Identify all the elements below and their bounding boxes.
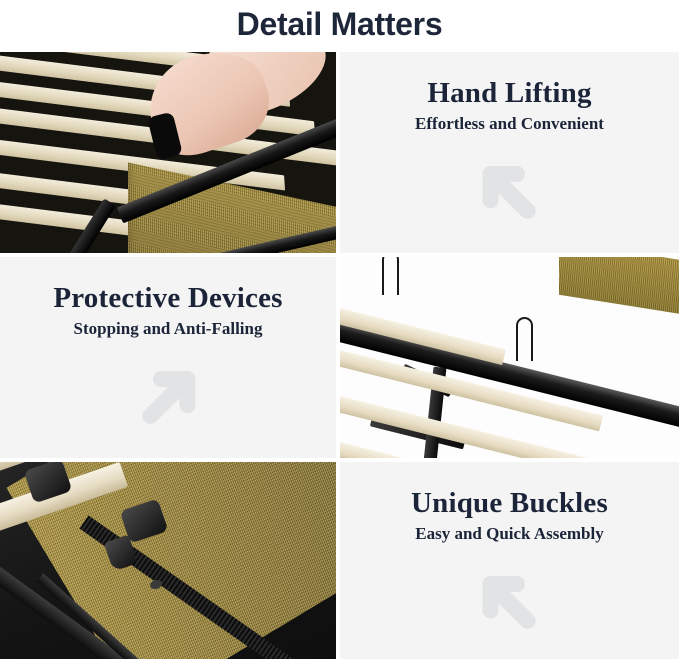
hand-lifting-caption: Hand Lifting Effortless and Convenient <box>340 52 679 253</box>
buckle-closeup-photo <box>0 462 336 659</box>
arrow-up-left-icon <box>471 148 549 226</box>
detail-matters-infographic: Detail Matters <box>0 0 679 659</box>
caption-subtitle: Easy and Quick Assembly <box>415 525 603 544</box>
caption-subtitle: Stopping and Anti-Falling <box>74 320 263 339</box>
page-title: Detail Matters <box>237 8 443 44</box>
arrow-up-right-icon <box>129 353 207 431</box>
arrow-up-left-icon <box>471 558 549 636</box>
protective-devices-caption: Protective Devices Stopping and Anti-Fal… <box>0 257 336 458</box>
wire-hook-protective-device-photo <box>340 257 679 458</box>
caption-subtitle: Effortless and Convenient <box>415 115 604 134</box>
header: Detail Matters <box>0 0 679 52</box>
caption-title: Protective Devices <box>53 283 282 315</box>
wire-hook-stopper <box>516 317 533 361</box>
feature-grid: Hand Lifting Effortless and Convenient P… <box>0 52 679 659</box>
caption-title: Unique Buckles <box>411 488 608 520</box>
bed-frame-hand-lifting-photo <box>0 52 336 253</box>
wire-hook-stopper <box>382 257 399 295</box>
caption-title: Hand Lifting <box>427 78 591 110</box>
unique-buckles-caption: Unique Buckles Easy and Quick Assembly <box>340 462 679 659</box>
